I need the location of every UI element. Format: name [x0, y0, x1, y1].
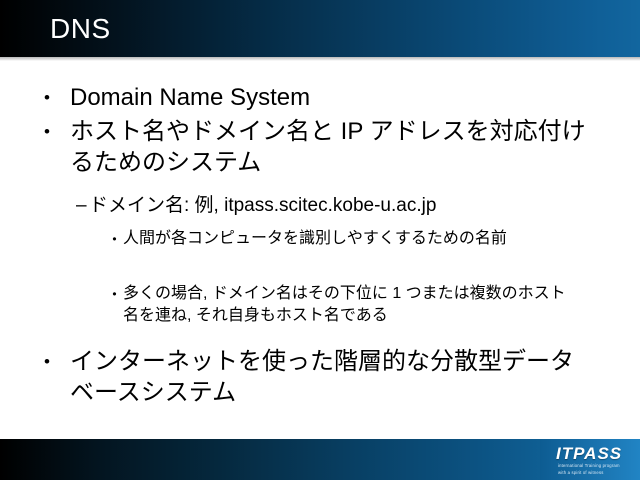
- bullet-text: インターネットを使った階層的な分散型データベースシステム: [70, 346, 574, 408]
- page-title: DNS: [50, 13, 111, 45]
- bullet-marker-smalldot: •: [106, 228, 123, 250]
- bullet-marker-smalldot: •: [106, 283, 123, 305]
- bullet-marker-dot: •: [44, 116, 70, 147]
- itpass-logo-tagline-line1: international Training program: [558, 463, 620, 468]
- slide: DNS • Domain Name System • ホスト名やドメイン名と I…: [0, 0, 640, 480]
- bullet-text: ホスト名やドメイン名と IP アドレスを対応付けるためのシステム: [70, 116, 594, 178]
- bullet-level1-2: • ホスト名やドメイン名と IP アドレスを対応付けるためのシステム: [44, 116, 594, 178]
- bullet-text: Domain Name System: [70, 82, 604, 113]
- itpass-logo-text: ITPASS: [556, 444, 622, 464]
- bullet-text: 人間が各コンピュータを識別しやすくするための名前: [123, 228, 576, 250]
- itpass-logo-tagline-line2: with a spirit of witness: [558, 470, 604, 475]
- bullet-level3-1: • 人間が各コンピュータを識別しやすくするための名前: [106, 228, 576, 250]
- bullet-marker-dash: –: [76, 193, 89, 219]
- bullet-marker-dot: •: [44, 346, 70, 377]
- bullet-level2-1: – ドメイン名: 例, itpass.scitec.kobe-u.ac.jp: [76, 193, 596, 219]
- bullet-text: 多くの場合, ドメイン名はその下位に 1 つまたは複数のホスト名を連ね, それ自…: [123, 283, 576, 327]
- bullet-level3-2: • 多くの場合, ドメイン名はその下位に 1 つまたは複数のホスト名を連ね, そ…: [106, 283, 576, 327]
- bullet-marker-dot: •: [44, 82, 70, 113]
- bullet-level1-3: • インターネットを使った階層的な分散型データベースシステム: [44, 346, 574, 408]
- itpass-logo: ITPASS international Training program wi…: [540, 439, 640, 480]
- bullet-text: ドメイン名: 例, itpass.scitec.kobe-u.ac.jp: [89, 193, 596, 219]
- slide-body: • Domain Name System • ホスト名やドメイン名と IP アド…: [0, 61, 640, 436]
- bullet-level1-1: • Domain Name System: [44, 82, 604, 113]
